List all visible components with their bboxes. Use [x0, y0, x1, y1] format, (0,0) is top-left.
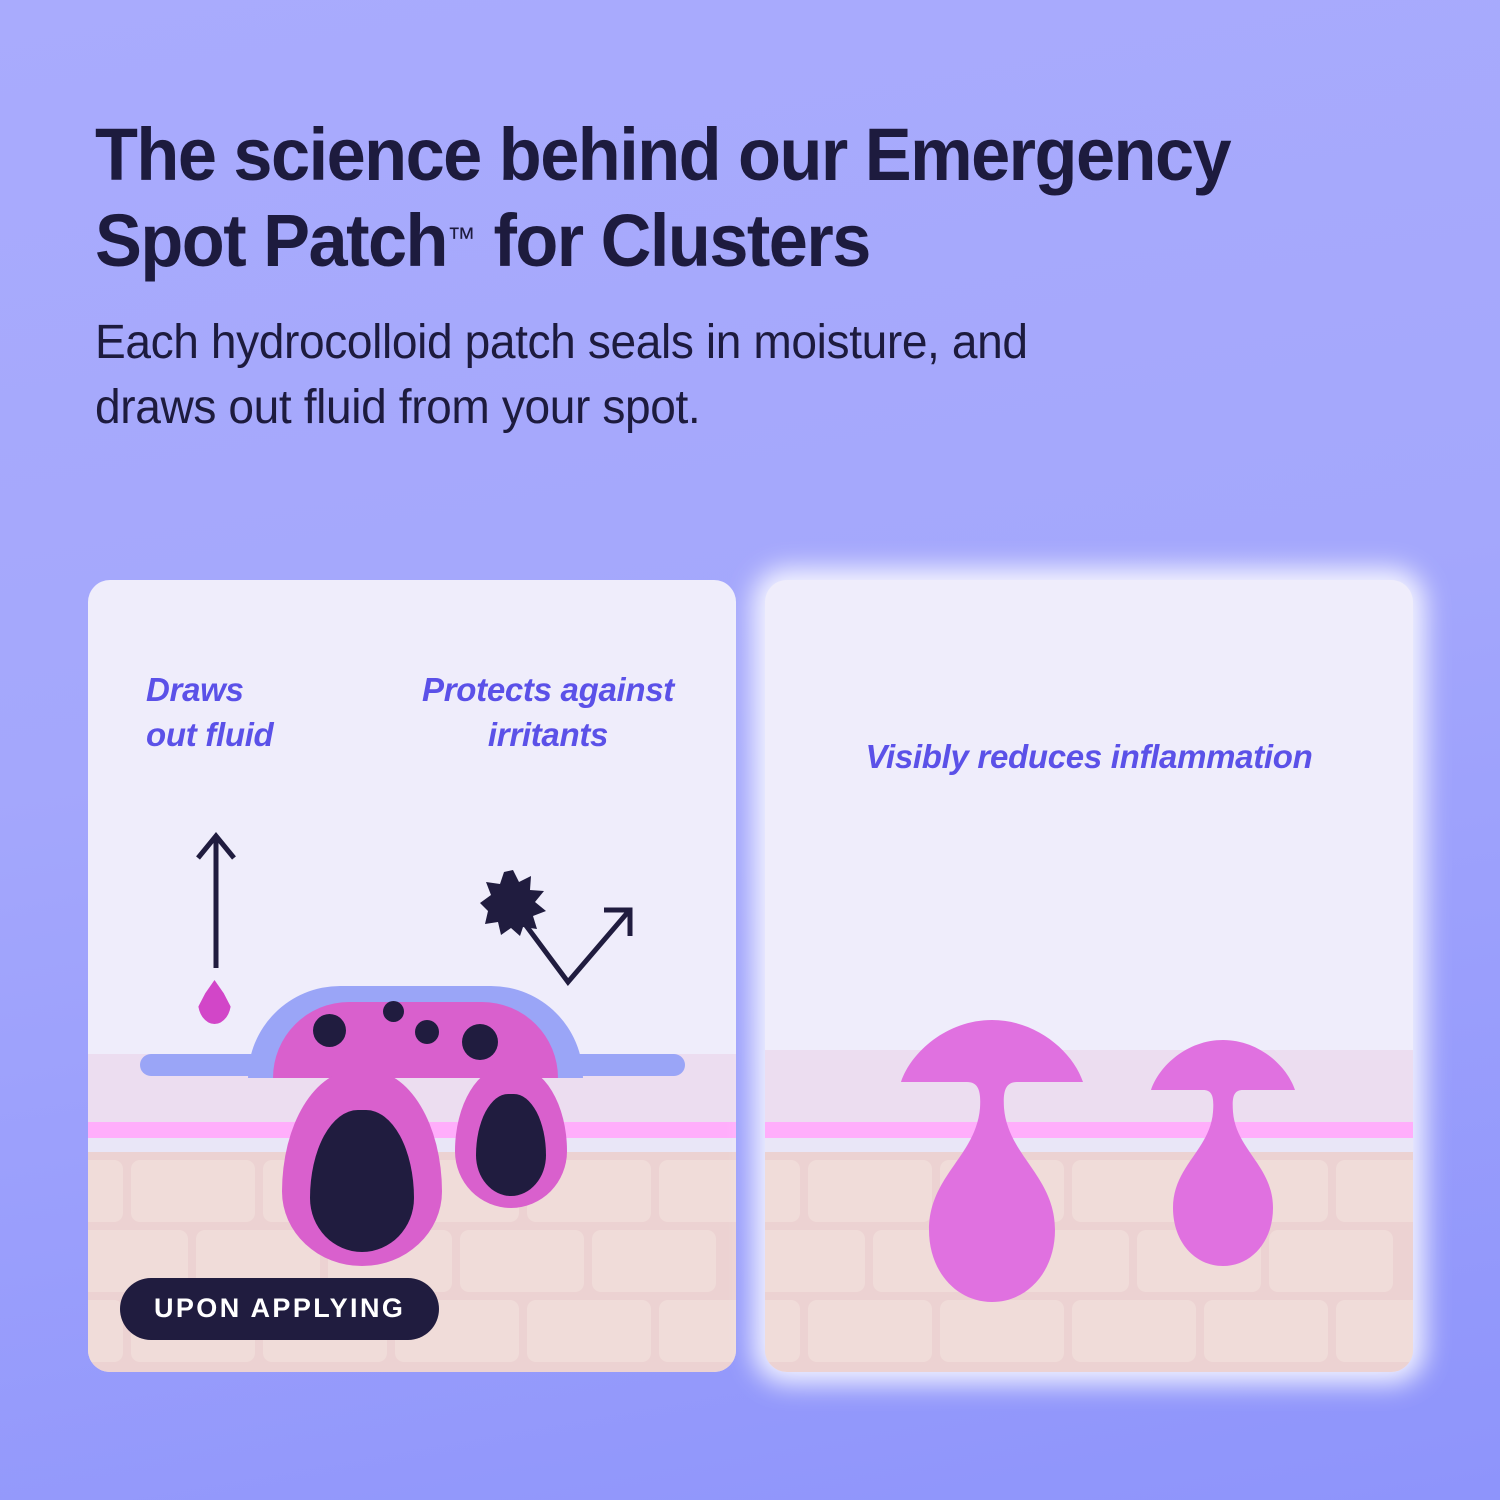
- debris-dot: [383, 1001, 404, 1022]
- trademark-symbol: ™: [447, 222, 476, 255]
- header: The science behind our Emergency Spot Pa…: [95, 112, 1455, 440]
- debris-dot: [313, 1014, 346, 1047]
- debris-dot: [462, 1024, 498, 1060]
- droplet-icon: [198, 980, 231, 1024]
- title-line-2-post: for Clusters: [475, 199, 869, 282]
- subtitle-line-1: Each hydrocolloid patch seals in moistur…: [95, 316, 1028, 369]
- pore-reduced-large: [877, 1016, 1107, 1306]
- status-badge: UPON APPLYING: [120, 1278, 439, 1340]
- page-title: The science behind our Emergency Spot Pa…: [95, 112, 1387, 284]
- card-visibly-reduces: Visibly reduces inflammation: [765, 580, 1413, 1372]
- title-line-2-pre: Spot Patch: [95, 199, 447, 282]
- card-upon-applying: Draws out fluid Protects against irritan…: [88, 580, 736, 1372]
- skin-cross-section-right: [765, 1050, 1413, 1372]
- debris-dot: [415, 1020, 439, 1044]
- pore-follicle-small: [436, 1044, 586, 1214]
- subtitle-line-2: draws out fluid from your spot.: [95, 381, 700, 434]
- page-subtitle: Each hydrocolloid patch seals in moistur…: [95, 310, 1305, 441]
- promo-graphic: The science behind our Emergency Spot Pa…: [0, 0, 1500, 1500]
- label-protects-against-irritants: Protects against irritants: [388, 668, 708, 757]
- arrow-up-icon: [186, 830, 246, 970]
- deflect-arrow-icon: [506, 894, 676, 1004]
- pore-follicle-large: [262, 1044, 462, 1274]
- label-visibly-reduces-inflammation: Visibly reduces inflammation: [765, 735, 1413, 780]
- title-line-1: The science behind our Emergency: [95, 113, 1230, 196]
- label-draws-out-fluid: Draws out fluid: [146, 668, 366, 757]
- brick-row: [765, 1300, 1413, 1362]
- pore-reduced-small: [1133, 1036, 1313, 1276]
